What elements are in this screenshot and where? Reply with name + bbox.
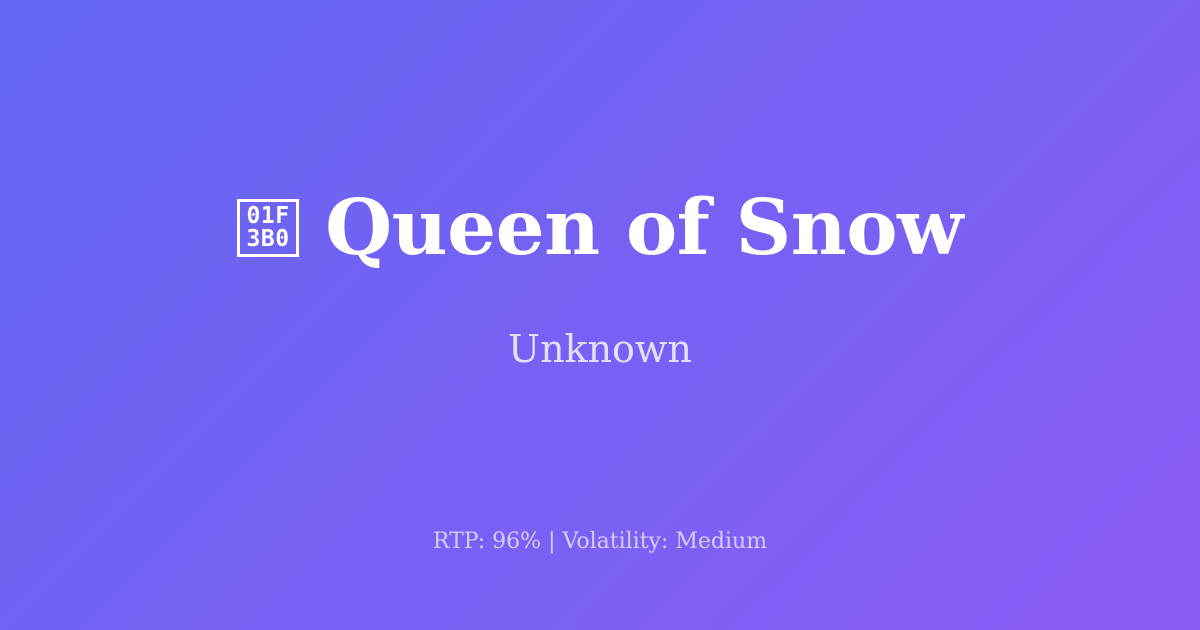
tofu-codepoint-bottom: 3B0: [247, 228, 290, 251]
game-preview-card: 01F 3B0 Queen of Snow Unknown RTP: 96% |…: [0, 0, 1200, 630]
provider-name: Unknown: [508, 327, 692, 373]
slot-machine-icon: 01F 3B0: [237, 199, 299, 257]
title-line: 01F 3B0 Queen of Snow: [0, 190, 1200, 267]
game-stats: RTP: 96% | Volatility: Medium: [0, 528, 1200, 557]
tofu-codepoint-top: 01F: [247, 205, 290, 228]
page-title: Queen of Snow: [325, 190, 963, 267]
